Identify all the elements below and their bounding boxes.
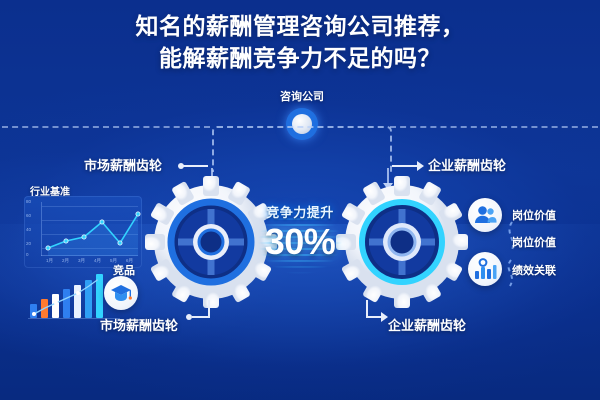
center-stat-value: 30% xyxy=(252,221,348,263)
right-item-label-0: 岗位价值 xyxy=(512,207,556,223)
title-line-2: 能解薪酬竞争力不足的吗？ xyxy=(0,42,600,74)
users-icon xyxy=(468,198,502,232)
page-title: 知名的薪酬管理咨询公司推荐， 能解薪酬竞争力不足的吗？ xyxy=(0,10,600,74)
connector-dash-right xyxy=(390,126,598,128)
center-stat-caption: 竞争力提升 xyxy=(252,202,348,221)
gear-label-enterprise-bottom: 企业薪酬齿轮 xyxy=(388,315,466,334)
infographic-canvas: 知名的薪酬管理咨询公司推荐， 能解薪酬竞争力不足的吗？ 咨询公司 xyxy=(0,0,600,400)
hook-bottom-right xyxy=(362,300,392,322)
hub-label: 咨询公司 xyxy=(247,88,357,104)
gear-label-enterprise-top: 企业薪酬齿轮 xyxy=(428,155,506,174)
hook-top-right xyxy=(390,160,424,172)
right-items-connector xyxy=(498,218,558,298)
title-line-1: 知名的薪酬管理咨询公司推荐， xyxy=(0,10,600,42)
gear-icon-right xyxy=(336,176,468,308)
connector-dash-left xyxy=(2,126,210,128)
graduation-cap-icon xyxy=(104,276,138,310)
hook-top-left xyxy=(178,160,212,172)
center-stat: 竞争力提升 30% xyxy=(252,196,348,288)
connector-bracket xyxy=(212,126,392,172)
right-item-label-2: 绩效关联 xyxy=(512,262,556,278)
gear-label-market-top: 市场薪酬齿轮 xyxy=(84,155,162,174)
line-chart-card: 80 60 40 20 0 1月 2月 3月 4月 5月 6月 xyxy=(24,196,142,268)
bar-chart-person-icon xyxy=(468,252,502,286)
hook-bottom-left xyxy=(186,300,216,322)
right-item-label-1: 岗位价值 xyxy=(512,234,556,250)
line-chart-series xyxy=(24,196,142,268)
